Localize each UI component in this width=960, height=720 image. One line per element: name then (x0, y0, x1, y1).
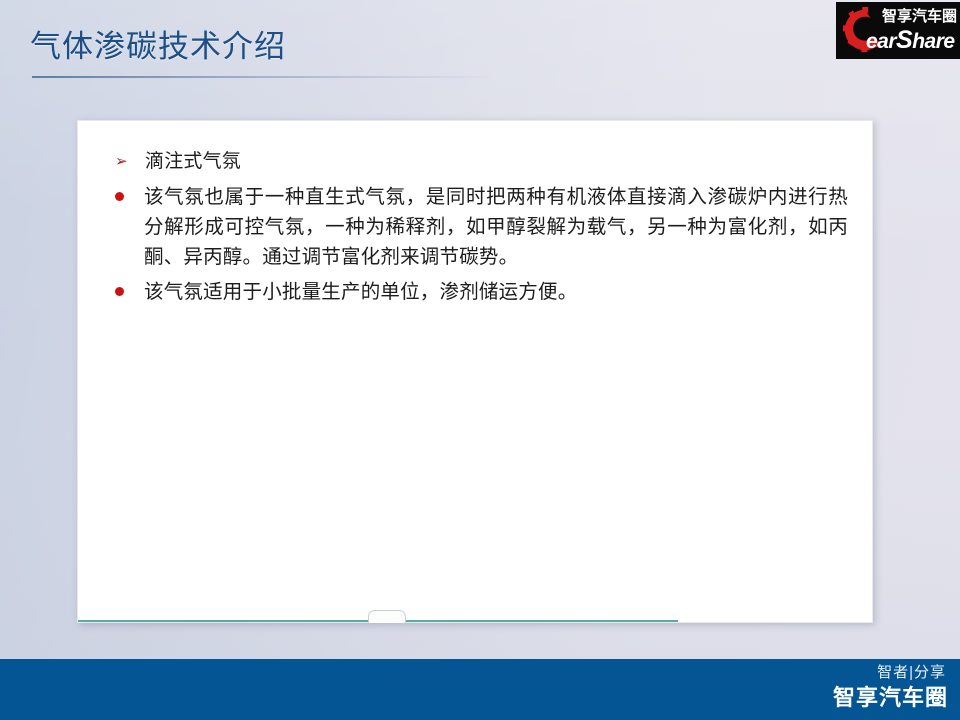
list-item: 该气氛也属于一种直生式气氛，是同时把两种有机液体直接滴入渗碳炉内进行热分解形成可… (114, 183, 848, 273)
title-divider (32, 76, 492, 78)
list-item-label: 该气氛适用于小批量生产的单位，渗剂储运方便。 (144, 278, 848, 308)
logo-en-prefix: ear (866, 30, 896, 53)
footer-tagline: 智者|分享 (877, 663, 946, 683)
footer-bar: 智者|分享 智享汽车圈 (0, 659, 960, 720)
logo-english-text: earShare (866, 27, 955, 55)
list-item: ➢ 滴注式气氛 (114, 147, 848, 177)
bullet-list: ➢ 滴注式气氛 该气氛也属于一种直生式气氛，是同时把两种有机液体直接滴入渗碳炉内… (114, 147, 848, 313)
logo-chinese-text: 智享汽车圈 (882, 8, 957, 26)
list-item: 该气氛适用于小批量生产的单位，渗剂储运方便。 (114, 278, 848, 308)
panel-tab-handle (368, 610, 406, 623)
logo-en-big: S (896, 26, 912, 54)
page-title: 气体渗碳技术介绍 (30, 27, 286, 67)
arrow-bullet-icon: ➢ (114, 147, 145, 177)
slide-canvas: 气体渗碳技术介绍 智享汽车圈 earShare ➢ 滴注式气氛 (0, 0, 960, 720)
dot-bullet-icon (114, 278, 144, 308)
list-item-label: 该气氛也属于一种直生式气氛，是同时把两种有机液体直接滴入渗碳炉内进行热分解形成可… (144, 183, 848, 273)
dot-bullet-icon (114, 183, 144, 213)
list-item-label: 滴注式气氛 (145, 147, 848, 177)
brand-logo: 智享汽车圈 earShare (836, 2, 960, 59)
logo-en-suffix: hare (912, 30, 954, 53)
footer-brand: 智享汽车圈 (833, 683, 948, 713)
content-panel: ➢ 滴注式气氛 该气氛也属于一种直生式气氛，是同时把两种有机液体直接滴入渗碳炉内… (77, 120, 873, 623)
